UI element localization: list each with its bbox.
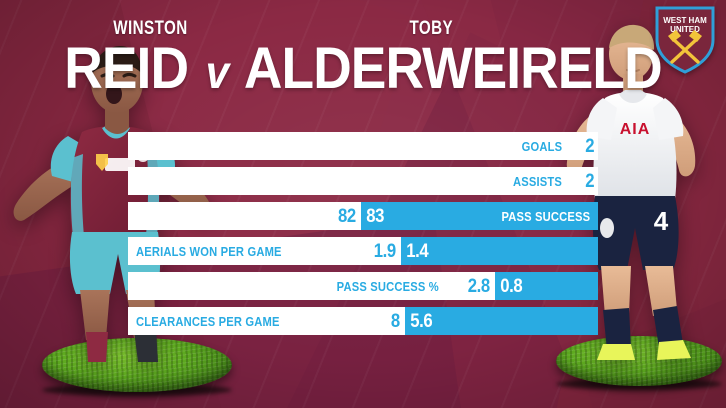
stat-row-inner: 2.80.8PASS SUCCESS % xyxy=(128,272,598,300)
stat-label: ASSISTS xyxy=(513,167,562,195)
comparison-graphic: AIA 4 WINSTON TOBY REID v ALDERWEIRE xyxy=(0,0,726,408)
stat-value-right: 1.4 xyxy=(401,237,463,265)
stat-value-right: 2 xyxy=(585,132,594,160)
stat-label: AERIALS WON PER GAME xyxy=(136,237,282,265)
stat-value-left: 2.8 xyxy=(433,272,495,300)
stat-row: 2ASSISTS xyxy=(128,167,598,195)
svg-text:AIA: AIA xyxy=(620,121,651,138)
svg-text:4: 4 xyxy=(654,206,669,236)
badge-line1: WEST HAM xyxy=(663,16,707,25)
stat-row: 2.80.8PASS SUCCESS % xyxy=(128,272,598,300)
stat-value-right: 2 xyxy=(585,167,594,195)
stat-label: PASS SUCCESS % xyxy=(336,272,438,300)
stat-label: CLEARANCES PER GAME xyxy=(136,307,280,335)
stat-row-inner: 2GOALS xyxy=(128,132,598,160)
stat-value-right: 83 xyxy=(361,202,423,230)
stat-value-right: 5.6 xyxy=(405,307,467,335)
stat-value-right: 0.8 xyxy=(495,272,557,300)
stat-label: PASS SUCCESS xyxy=(501,202,590,230)
stat-row: 8283PASS SUCCESS xyxy=(128,202,598,230)
stat-row-inner: 1.91.4AERIALS WON PER GAME xyxy=(128,237,598,265)
stat-row: 85.6CLEARANCES PER GAME xyxy=(128,307,598,335)
west-ham-united-crest-icon: WEST HAM UNITED xyxy=(654,4,716,74)
stat-row-inner: 85.6CLEARANCES PER GAME xyxy=(128,307,598,335)
stat-value-left: 8 xyxy=(344,307,406,335)
stat-value-left: 1.9 xyxy=(339,237,401,265)
stats-table: 2GOALS2ASSISTS8283PASS SUCCESS1.91.4AERI… xyxy=(128,132,598,342)
stat-value-left: 82 xyxy=(299,202,361,230)
stat-label: GOALS xyxy=(521,132,562,160)
stat-row-inner: 2ASSISTS xyxy=(128,167,598,195)
stat-row: 1.91.4AERIALS WON PER GAME xyxy=(128,237,598,265)
stat-row-inner: 8283PASS SUCCESS xyxy=(128,202,598,230)
stat-row: 2GOALS xyxy=(128,132,598,160)
